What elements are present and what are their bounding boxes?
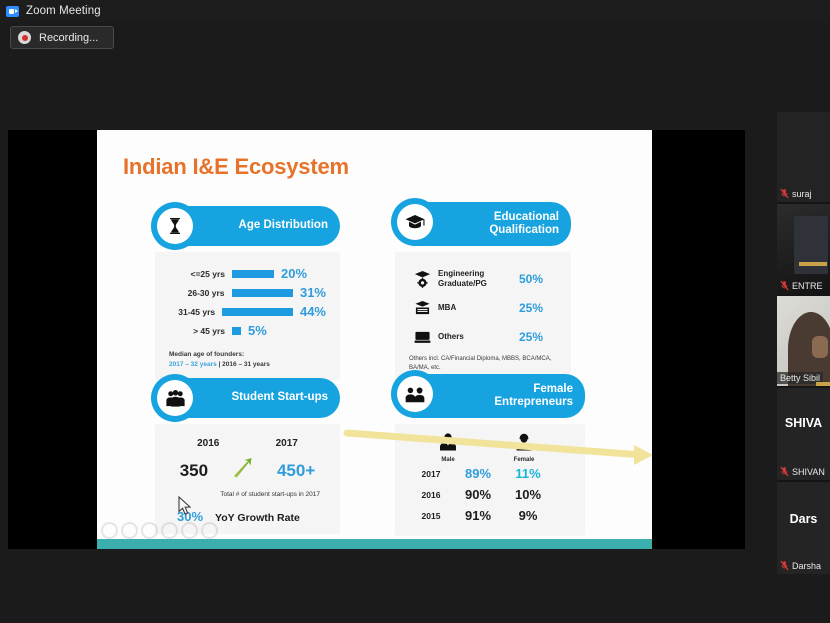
panel-education-header: Educational Qualification xyxy=(395,202,571,246)
education-label: MBA xyxy=(435,303,519,313)
graduation-cap-icon xyxy=(391,198,439,246)
age-row: <=25 yrs 20% xyxy=(169,264,326,283)
female-female-value: 11% xyxy=(503,466,553,481)
social-icon xyxy=(181,522,198,539)
female-title-line2: Entrepreneurs xyxy=(494,396,573,408)
education-row: Engineering Graduate/PG 50% xyxy=(409,266,557,292)
age-bar xyxy=(232,289,293,297)
slide-footer-bar xyxy=(97,539,652,549)
table-row: 2017 89% 11% xyxy=(409,463,571,484)
panel-students-title: Student Start-ups xyxy=(232,391,328,404)
female-year: 2015 xyxy=(409,511,453,521)
participant-name: suraj xyxy=(792,189,812,199)
social-icon xyxy=(201,522,218,539)
female-column-headers: Male Female xyxy=(409,432,571,463)
median-2016: 2016 – 31 years xyxy=(222,361,270,368)
panel-education: Educational Qualification xyxy=(395,202,571,384)
participant-name: ENTRE xyxy=(792,281,823,291)
panel-age-header: Age Distribution xyxy=(155,206,340,246)
students-growth-label: YoY Growth Rate xyxy=(215,512,300,524)
slide-social-icons xyxy=(101,522,218,539)
education-percent: 25% xyxy=(519,301,557,315)
participant-name-tag: Darsha xyxy=(777,559,824,572)
panel-education-title: Educational Qualification xyxy=(489,211,559,237)
recording-label: Recording... xyxy=(39,32,98,44)
education-note: Others incl. CA/Financial Diploma, MBBS,… xyxy=(409,355,557,374)
female-female-value: 10% xyxy=(503,487,553,502)
education-percent: 50% xyxy=(519,272,557,286)
participant-rail[interactable]: suraj ENTRE Betty Sibil xyxy=(777,112,830,623)
age-row: 31-45 yrs 44% xyxy=(169,302,326,321)
female-col-female: Female xyxy=(499,432,549,463)
participant-name-tag: SHIVAN xyxy=(777,465,828,478)
age-percent: 44% xyxy=(300,304,326,319)
panel-female-entrepreneurs: Female Entrepreneurs xyxy=(395,374,585,536)
age-label: 31-45 yrs xyxy=(169,307,215,317)
mic-muted-icon xyxy=(780,466,789,477)
education-label: Others xyxy=(435,332,519,342)
panel-female-title: Female Entrepreneurs xyxy=(494,383,573,409)
video-content xyxy=(812,336,828,358)
median-2017: 2017 – 32 years xyxy=(169,361,217,368)
students-year-right: 2017 xyxy=(276,438,298,449)
students-value-2017: 450+ xyxy=(277,461,315,481)
gear-cap-icon xyxy=(409,270,435,289)
education-title-line1: Educational xyxy=(494,211,559,223)
participant-tile-suraj[interactable]: suraj xyxy=(777,112,830,202)
window-title: Zoom Meeting xyxy=(26,5,101,17)
mic-muted-icon xyxy=(780,280,789,291)
video-content xyxy=(799,262,827,266)
female-year: 2016 xyxy=(409,490,453,500)
median-sep: | xyxy=(219,361,221,368)
hourglass-icon xyxy=(151,202,199,250)
age-label: <=25 yrs xyxy=(169,269,225,279)
presentation-slide: Indian I&E Ecosystem Age Distribution xyxy=(97,130,652,549)
age-label: > 45 yrs xyxy=(169,326,225,336)
table-row: 2016 90% 10% xyxy=(409,484,571,505)
age-bar xyxy=(232,327,241,335)
growth-arrow-icon xyxy=(230,455,256,486)
female-title-line1: Female xyxy=(533,383,573,395)
participant-tile-betty[interactable]: Betty Sibil xyxy=(777,296,830,386)
zoom-logo-icon xyxy=(6,6,19,17)
participant-tile-darsha[interactable]: Dars Darsha xyxy=(777,482,830,574)
age-percent: 31% xyxy=(300,285,326,300)
female-col-male: Male xyxy=(423,432,473,463)
participant-initials: Dars xyxy=(777,512,830,526)
age-bar xyxy=(232,270,274,278)
age-row: 26-30 yrs 31% xyxy=(169,283,326,302)
median-title: Median age of founders: xyxy=(169,350,326,360)
briefcase-icon xyxy=(409,300,435,316)
page-title: Indian I&E Ecosystem xyxy=(123,154,349,180)
participant-name: Darsha xyxy=(792,561,821,571)
female-col-female-label: Female xyxy=(499,457,549,463)
mouse-cursor-icon xyxy=(178,496,192,516)
male-avatar-icon xyxy=(437,438,459,455)
participant-name: SHIVAN xyxy=(792,467,825,477)
age-label: 26-30 yrs xyxy=(169,288,225,298)
education-row: Others 25% xyxy=(409,324,557,350)
age-row: > 45 yrs 5% xyxy=(169,321,326,340)
female-male-value: 90% xyxy=(453,487,503,502)
female-avatar-icon xyxy=(513,438,535,455)
participant-initials: SHIVA xyxy=(777,416,830,430)
participant-tile-entre[interactable]: ENTRE xyxy=(777,204,830,294)
panel-age-body: <=25 yrs 20% 26-30 yrs 31% 31-45 yrs 44% xyxy=(155,252,340,380)
mic-muted-icon xyxy=(780,560,789,571)
people-group-icon xyxy=(151,374,199,422)
participant-name: Betty Sibil xyxy=(780,373,820,383)
students-value-2016: 350 xyxy=(180,461,208,481)
panel-female-body: Male Female xyxy=(395,424,585,536)
students-year-left: 2016 xyxy=(197,438,219,449)
female-year: 2017 xyxy=(409,469,453,479)
mic-muted-icon xyxy=(780,188,789,199)
participant-name-tag: ENTRE xyxy=(777,279,826,292)
participant-tile-shivan[interactable]: SHIVA SHIVAN xyxy=(777,388,830,480)
book-icon xyxy=(409,329,435,345)
male-female-pair-icon xyxy=(391,370,439,418)
panel-female-header: Female Entrepreneurs xyxy=(395,374,585,418)
panel-students-header: Student Start-ups xyxy=(155,378,340,418)
female-female-value: 9% xyxy=(503,508,553,523)
recording-indicator[interactable]: Recording... xyxy=(10,26,114,49)
social-icon xyxy=(161,522,178,539)
panel-age-title: Age Distribution xyxy=(239,219,328,232)
social-icon xyxy=(141,522,158,539)
students-years: 2016 2017 xyxy=(169,438,326,449)
female-male-value: 91% xyxy=(453,508,503,523)
shared-screen-viewport[interactable]: Indian I&E Ecosystem Age Distribution xyxy=(8,130,745,549)
age-percent: 20% xyxy=(281,266,307,281)
table-row: 2015 91% 9% xyxy=(409,505,571,526)
panel-students-body: 2016 2017 350 45 xyxy=(155,424,340,534)
panel-education-body: Engineering Graduate/PG 50% MB xyxy=(395,252,571,384)
age-median-footnote: Median age of founders: 2017 – 32 years … xyxy=(169,350,326,370)
education-row: MBA 25% xyxy=(409,295,557,321)
education-title-line2: Qualification xyxy=(489,224,559,236)
social-icon xyxy=(121,522,138,539)
window-titlebar: Zoom Meeting xyxy=(0,0,830,22)
social-icon xyxy=(101,522,118,539)
education-label: Engineering Graduate/PG xyxy=(435,269,519,289)
video-content xyxy=(816,382,830,386)
education-percent: 25% xyxy=(519,330,557,344)
panel-age-distribution: Age Distribution <=25 yrs 20% 26-30 yrs … xyxy=(155,206,340,380)
students-values: 350 450+ xyxy=(169,455,326,486)
students-note: Total # of student start-ups in 2017 xyxy=(169,490,326,500)
female-col-male-label: Male xyxy=(423,457,473,463)
age-bar xyxy=(222,308,293,316)
record-dot-icon xyxy=(18,31,31,44)
female-male-value: 89% xyxy=(453,466,503,481)
participant-name-tag: suraj xyxy=(777,187,815,200)
zoom-meeting-window: Zoom Meeting Recording... Indian I&E Eco… xyxy=(0,0,830,623)
age-percent: 5% xyxy=(248,323,267,338)
